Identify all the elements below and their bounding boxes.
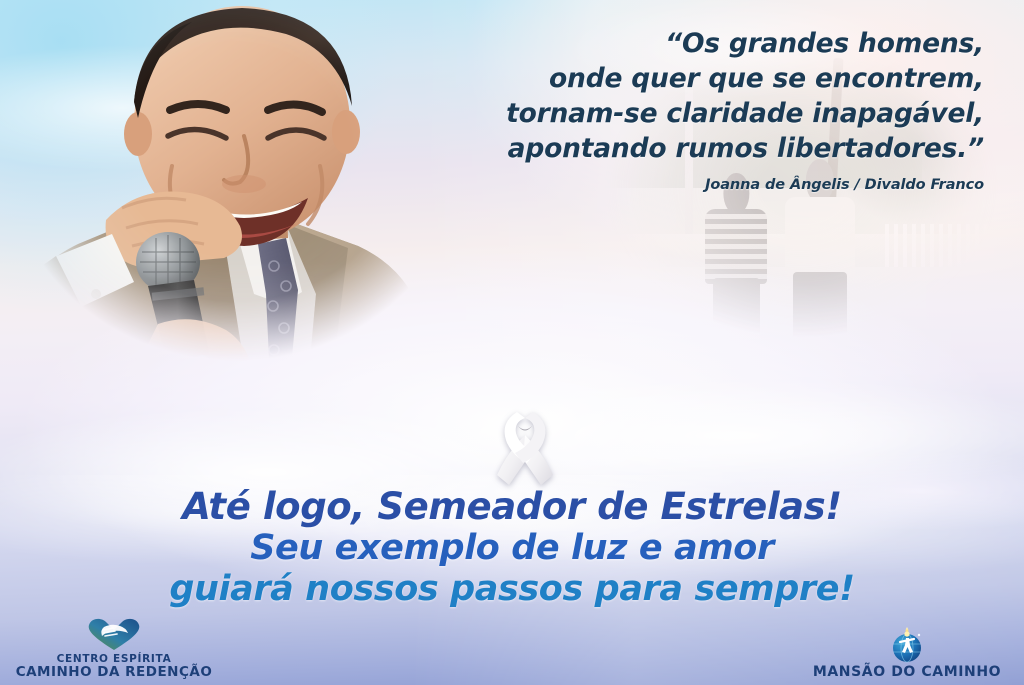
logo-left-line-2: CAMINHO DA REDENÇÃO <box>8 666 220 679</box>
heart-hands-icon <box>86 617 142 651</box>
quote-line-4: apontando rumos libertadores.” <box>424 131 984 166</box>
logo-mansao-do-caminho: MANSÃO DO CAMINHO <box>796 626 1018 679</box>
quote-block: “Os grandes homens, onde quer que se enc… <box>424 26 984 193</box>
headline-line-1: Até logo, Semeador de Estrelas! <box>0 485 1024 528</box>
quote-line-1: “Os grandes homens, <box>424 26 984 61</box>
portrait-photo <box>0 0 466 426</box>
logo-centro-espirita-caminho-da-redencao: CENTRO ESPÍRITA CAMINHO DA REDENÇÃO <box>8 617 220 679</box>
white-mourning-ribbon-icon <box>487 409 563 491</box>
headline-line-2: Seu exemplo de luz e amor <box>0 528 1024 569</box>
quote-attribution: Joanna de Ângelis / Divaldo Franco <box>424 177 984 193</box>
memorial-poster: “Os grandes homens, onde quer que se enc… <box>0 0 1024 685</box>
quote-line-2: onde quer que se encontrem, <box>424 61 984 96</box>
quote-line-3: tornam-se claridade inapagável, <box>424 96 984 131</box>
globe-torch-figure-icon <box>884 626 930 664</box>
headline-block: Até logo, Semeador de Estrelas! Seu exem… <box>0 485 1024 610</box>
headline-line-3: guiará nossos passos para sempre! <box>0 569 1024 610</box>
logo-right-line-1: MANSÃO DO CAMINHO <box>796 666 1018 679</box>
